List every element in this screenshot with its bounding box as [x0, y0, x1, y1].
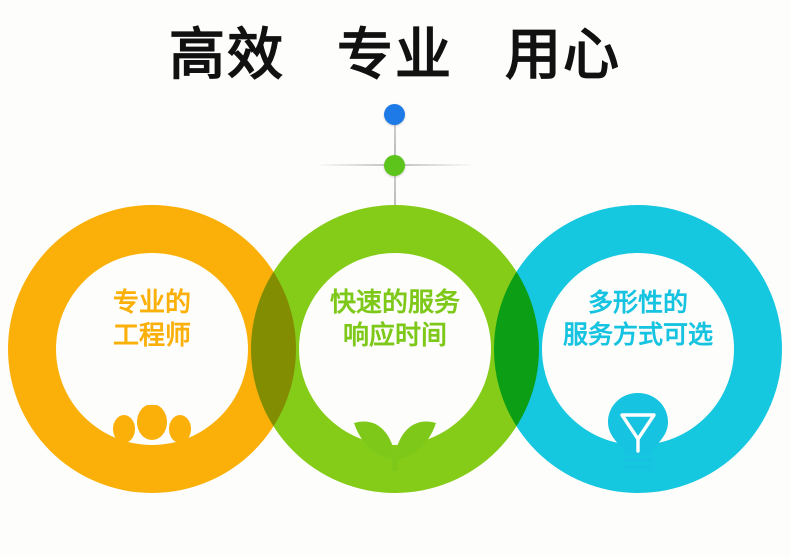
- ring-flexible-service-modes: [494, 205, 782, 493]
- venn-rings-group: [0, 0, 790, 557]
- infographic-canvas: 高效专业用心 专业的 工程师: [0, 0, 790, 557]
